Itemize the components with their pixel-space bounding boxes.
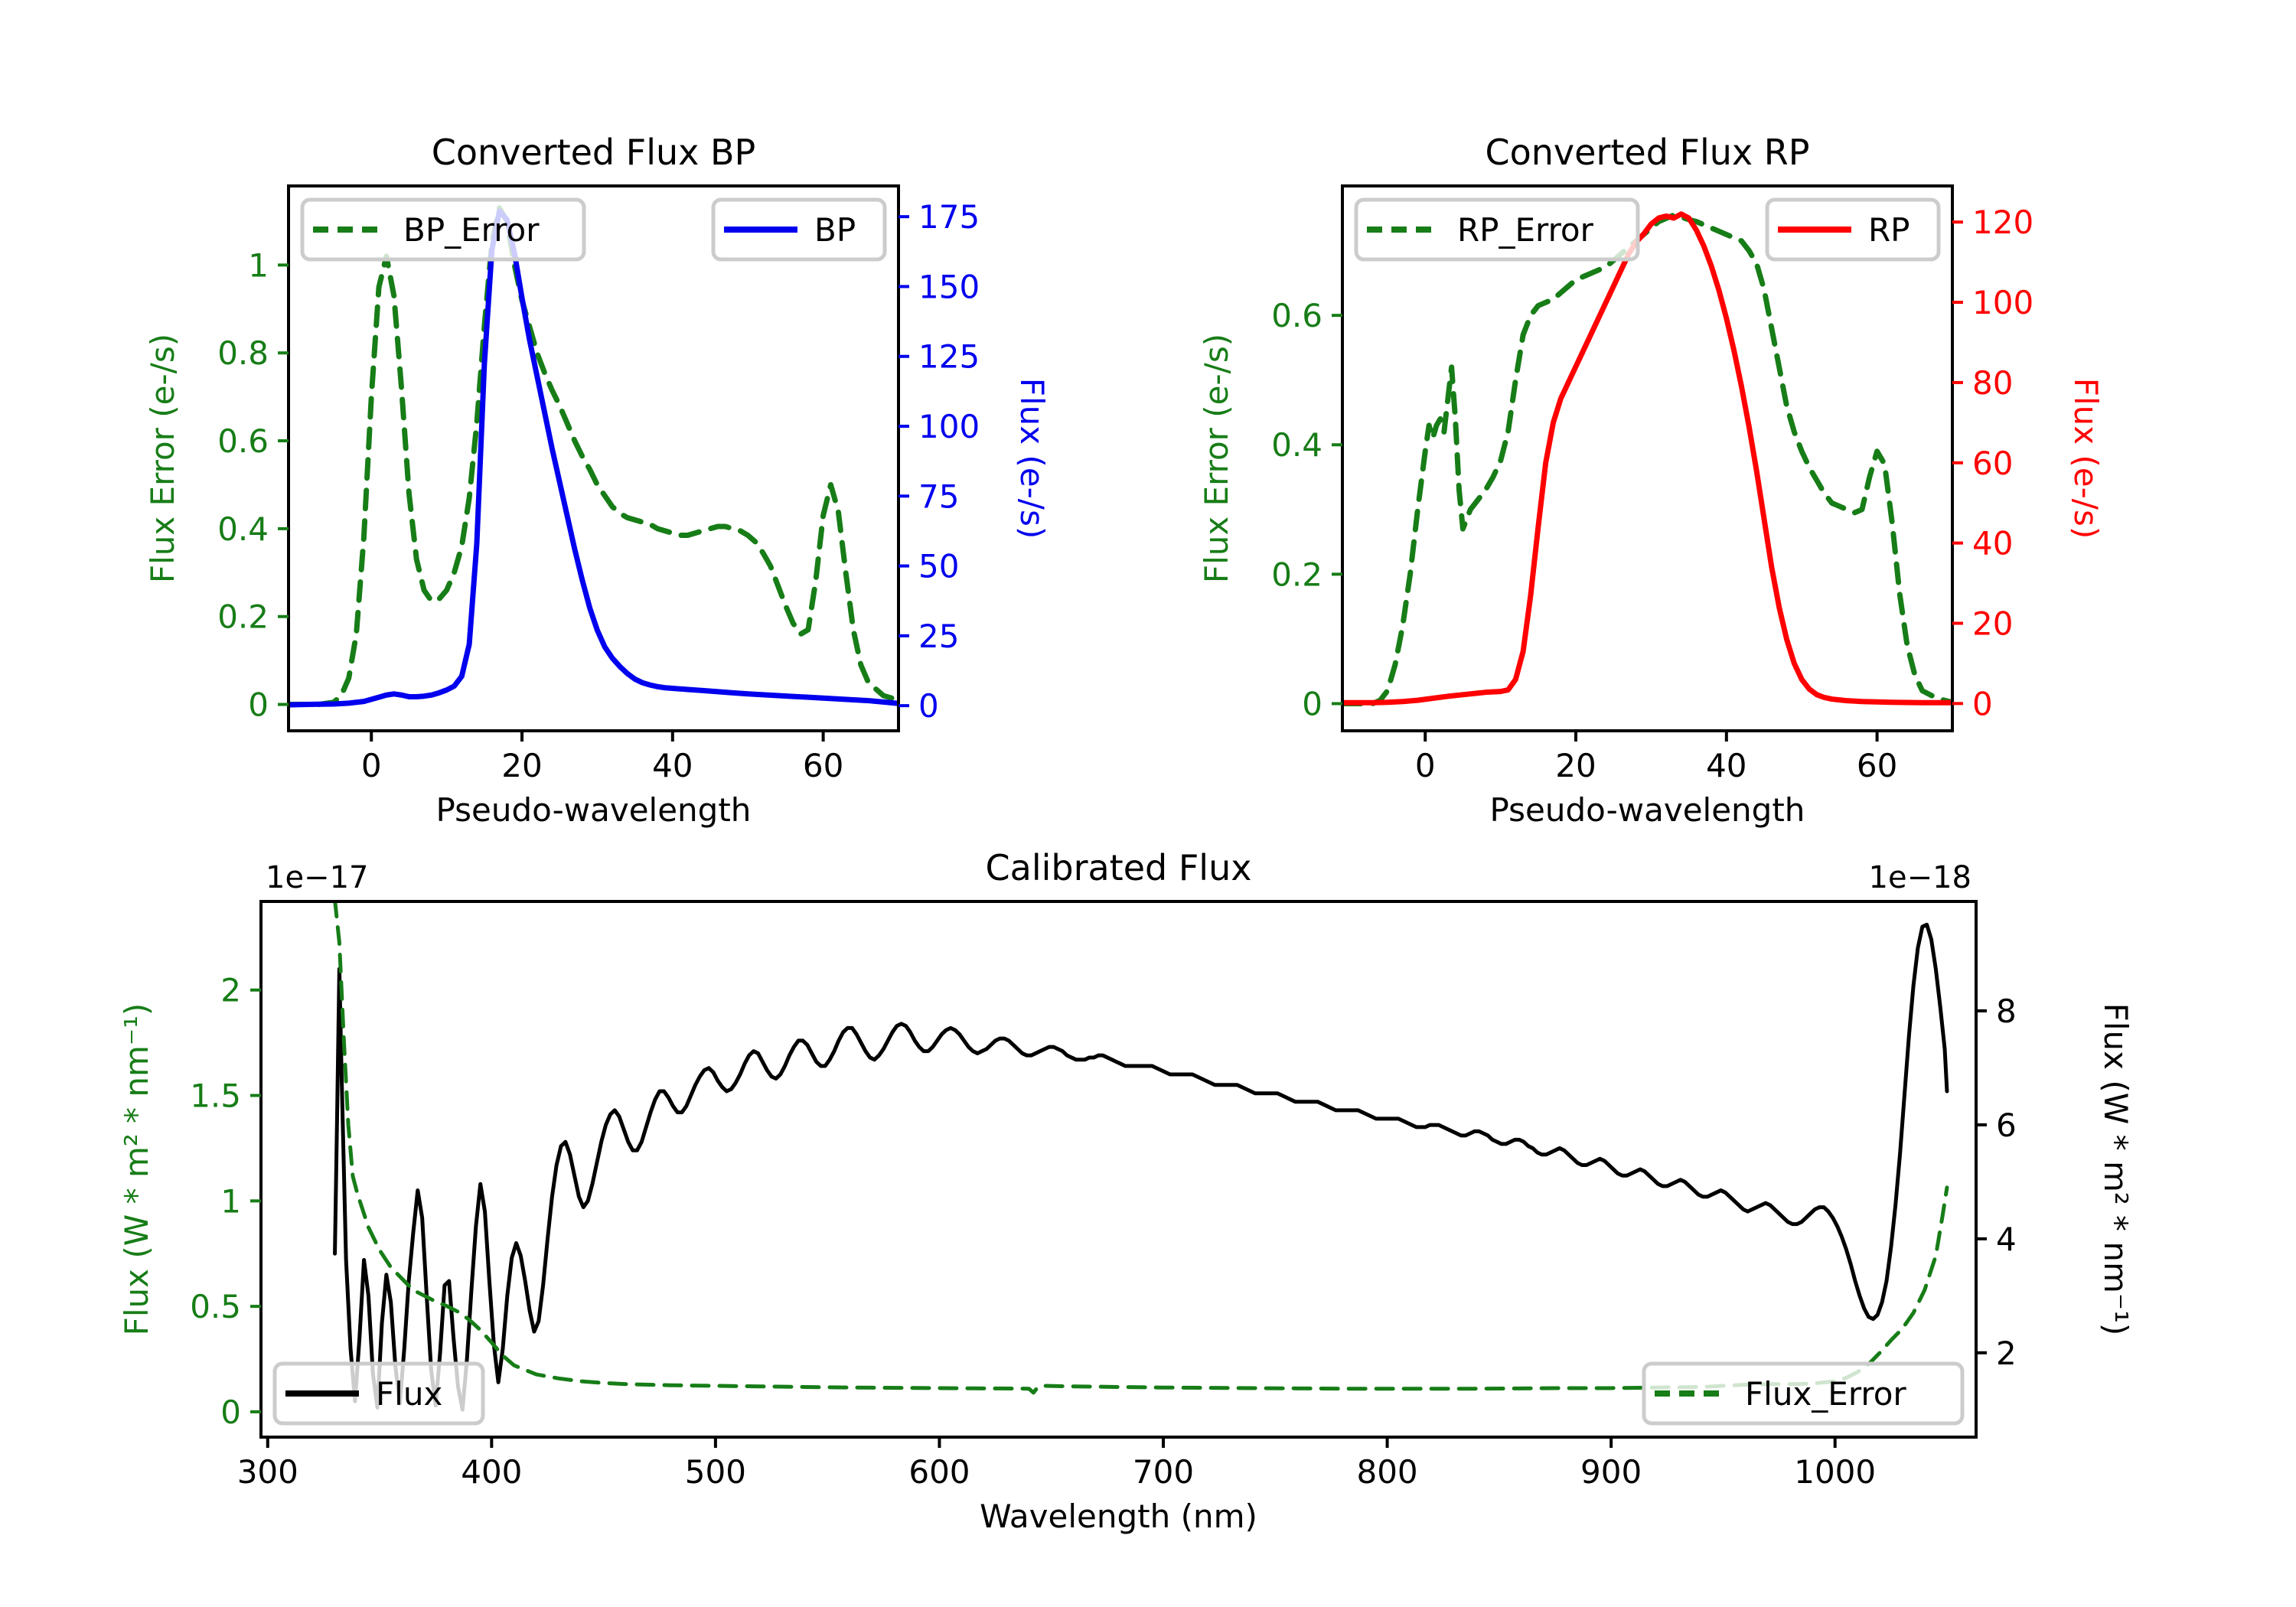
legend-label-calibrated-right: Flux_Error	[1745, 1375, 1906, 1413]
legend-label-bp-left: BP_Error	[403, 211, 540, 249]
yticklabel-left-bp-0.8: 0.8	[217, 334, 269, 372]
xticklabel-rp-60: 60	[1857, 747, 1897, 784]
series-rp-rp_error	[1342, 215, 1952, 703]
yticklabel-right-bp-150: 150	[918, 268, 980, 305]
yticklabel-right-bp-25: 25	[918, 618, 959, 655]
yticklabel-left-rp-0: 0	[1302, 685, 1322, 722]
yticklabel-right-rp-40: 40	[1972, 525, 2013, 562]
ylabel-right-bp: Flux (e-/s)	[1013, 378, 1051, 539]
ylabel-right-rp: Flux (e-/s)	[2067, 378, 2105, 539]
xticklabel-calibrated-800: 800	[1356, 1453, 1417, 1491]
offset-label-right: 1e−18	[1869, 860, 1971, 895]
yticklabel-right-bp-50: 50	[918, 548, 959, 585]
yticklabel-right-calibrated-2: 2	[1996, 1335, 2017, 1372]
xlabel-calibrated: Wavelength (nm)	[980, 1498, 1257, 1535]
xticklabel-bp-40: 40	[652, 747, 693, 784]
xticklabel-calibrated-900: 900	[1580, 1453, 1642, 1491]
xticklabel-calibrated-500: 500	[685, 1453, 746, 1491]
xticklabel-calibrated-1000: 1000	[1794, 1453, 1876, 1491]
yticklabel-left-bp-0.4: 0.4	[217, 510, 269, 548]
yticklabel-left-bp-0: 0	[248, 686, 269, 724]
legend-label-rp-left: RP_Error	[1457, 211, 1594, 249]
yticklabel-left-calibrated-0: 0	[220, 1393, 241, 1431]
axes-frame-calibrated	[261, 901, 1976, 1437]
yticklabel-left-calibrated-2: 2	[220, 972, 241, 1009]
ylabel-left-rp: Flux Error (e-/s)	[1198, 334, 1235, 583]
legend-label-calibrated-left: Flux	[376, 1375, 442, 1413]
yticklabel-right-rp-120: 120	[1972, 204, 2033, 241]
yticklabel-right-bp-125: 125	[918, 338, 980, 376]
xticklabel-calibrated-300: 300	[237, 1453, 298, 1491]
legend-label-bp-right: BP	[814, 211, 856, 249]
xticklabel-bp-0: 0	[361, 747, 382, 784]
xticklabel-rp-40: 40	[1706, 747, 1746, 784]
yticklabel-left-calibrated-1: 1	[220, 1182, 241, 1220]
offset-label-left: 1e−17	[266, 860, 368, 895]
xticklabel-calibrated-400: 400	[461, 1453, 522, 1491]
yticklabel-right-rp-100: 100	[1972, 284, 2033, 321]
yticklabel-left-rp-0.4: 0.4	[1271, 426, 1322, 464]
yticklabel-left-rp-0.6: 0.6	[1271, 297, 1322, 334]
chart-title-calibrated: Calibrated Flux	[986, 847, 1252, 888]
series-calibrated-flux	[335, 924, 1947, 1410]
chart-title-rp: Converted Flux RP	[1486, 132, 1810, 173]
ylabel-left-bp: Flux Error (e-/s)	[144, 334, 181, 583]
xticklabel-rp-20: 20	[1555, 747, 1596, 784]
series-calibrated-flux_error	[335, 900, 1947, 1393]
yticklabel-right-calibrated-8: 8	[1996, 993, 2017, 1030]
matplotlib-figure: Converted Flux BP0204060Pseudo-wavelengt…	[0, 0, 2296, 1607]
xticklabel-bp-60: 60	[803, 747, 843, 784]
yticklabel-right-rp-60: 60	[1972, 445, 2013, 482]
xticklabel-bp-20: 20	[501, 747, 542, 784]
xlabel-bp: Pseudo-wavelength	[436, 791, 752, 829]
xlabel-rp: Pseudo-wavelength	[1490, 791, 1805, 829]
yticklabel-right-rp-0: 0	[1972, 685, 1993, 722]
series-rp-rp	[1342, 214, 1952, 703]
axes-frame-bp	[289, 186, 899, 731]
chart-title-bp: Converted Flux BP	[432, 132, 756, 173]
yticklabel-right-calibrated-4: 4	[1996, 1221, 2017, 1258]
yticklabel-left-calibrated-0.5: 0.5	[190, 1288, 241, 1325]
legend-label-rp-right: RP	[1868, 211, 1910, 249]
yticklabel-left-calibrated-1.5: 1.5	[190, 1077, 241, 1115]
yticklabel-right-bp-0: 0	[918, 687, 939, 725]
yticklabel-left-bp-0.2: 0.2	[217, 598, 269, 636]
yticklabel-right-rp-80: 80	[1972, 364, 2013, 402]
yticklabel-left-bp-1: 1	[248, 246, 269, 284]
series-bp-bp_error	[289, 208, 899, 705]
xticklabel-calibrated-600: 600	[908, 1453, 970, 1491]
ylabel-right-calibrated: Flux (W * m² * nm⁻¹)	[2097, 1003, 2135, 1336]
yticklabel-left-rp-0.2: 0.2	[1271, 556, 1322, 593]
yticklabel-right-bp-100: 100	[918, 408, 980, 445]
yticklabel-right-calibrated-6: 6	[1996, 1107, 2017, 1144]
yticklabel-right-bp-175: 175	[918, 198, 980, 236]
yticklabel-right-bp-75: 75	[918, 478, 959, 515]
figure-canvas: Converted Flux BP0204060Pseudo-wavelengt…	[0, 0, 2296, 1607]
axes-frame-rp	[1342, 186, 1952, 731]
xticklabel-rp-0: 0	[1415, 747, 1436, 784]
ylabel-left-calibrated: Flux (W * m² * nm⁻¹)	[118, 1003, 155, 1336]
xticklabel-calibrated-700: 700	[1133, 1453, 1194, 1491]
yticklabel-right-rp-20: 20	[1972, 605, 2013, 642]
yticklabel-left-bp-0.6: 0.6	[217, 422, 269, 460]
